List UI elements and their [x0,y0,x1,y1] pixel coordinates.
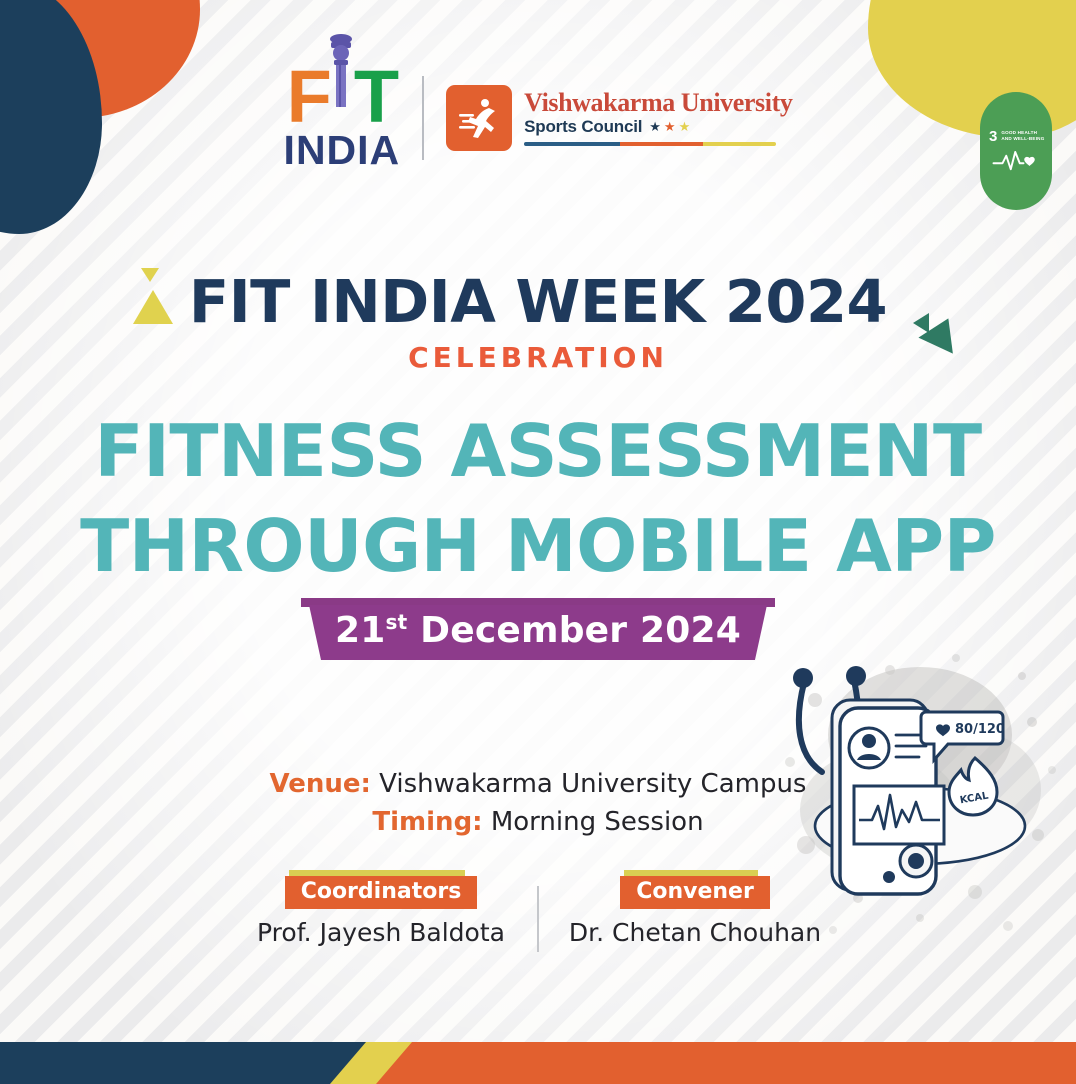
running-athlete-icon [446,85,512,151]
bottom-color-bar [0,1042,1076,1084]
sports-council-label: Sports Council [524,117,642,137]
timing-value: Morning Session [483,807,704,837]
vishwakarma-university-name: Vishwakarma University [524,89,792,116]
star-icon-navy: ★ [649,119,661,135]
credits-divider [537,886,539,952]
fit-letter-t: T [354,68,397,126]
coordinators-column: Coordinators Prof. Jayesh Baldota [243,876,519,947]
svg-text:80/120: 80/120 [955,722,1005,737]
heart-rate-bubble: 80/120 [921,712,1005,760]
coordinators-chip-wrap: Coordinators [285,876,478,909]
ashoka-pillar-icon [326,32,356,110]
flame-icon: KCAL [949,758,997,815]
header-logo-row: F T INDIA [0,64,1076,171]
fit-letter-f: F [287,68,330,126]
yellow-triangle-small-icon [141,268,159,282]
tricolor-underline [524,142,776,146]
star-icon-orange: ★ [664,119,676,135]
fit-india-logo: F T INDIA [284,64,401,171]
bottom-bar-orange [376,1042,1076,1084]
fit-india-wordmark: F T [287,64,397,126]
bottom-bar-navy [0,1042,380,1084]
timing-label: Timing: [372,807,482,837]
celebration-subtitle: CELEBRATION [0,341,1076,374]
star-icon-yellow: ★ [679,119,691,135]
health-app-line-art: 80/120 KCAL [770,630,1070,950]
date-ribbon: 21st December 2024 [309,598,767,660]
convener-role: Convener [620,876,770,909]
week-title-line: FIT INDIA WEEK 2024 [189,272,887,331]
coordinators-name: Prof. Jayesh Baldota [257,918,505,947]
logo-divider [422,76,424,160]
mobile-health-app-illustration: 80/120 KCAL [770,630,1070,950]
headline-line-1: FITNESS ASSESSMENT [0,404,1076,499]
week-title: FIT INDIA WEEK 2024 [189,267,887,336]
date-day: 21 [335,610,386,651]
coordinators-role: Coordinators [285,876,478,909]
vishwakarma-logo: Vishwakarma University Sports Council ★ … [446,85,792,151]
rating-stars: ★ ★ ★ [649,119,690,135]
venue-label: Venue: [270,769,371,799]
venue-value: Vishwakarma University Campus [371,769,807,799]
sports-council-row: Sports Council ★ ★ ★ [524,117,792,137]
convener-chip-wrap: Convener [620,876,770,909]
fit-india-subword: INDIA [284,130,401,171]
vishwakarma-text-block: Vishwakarma University Sports Council ★ … [524,89,792,146]
event-date: 21st December 2024 [309,605,767,660]
date-rest: December 2024 [407,610,741,651]
poster-canvas: 3 GOOD HEALTH AND WELL-BEING F [0,0,1076,1084]
headline-line-2: THROUGH MOBILE APP [0,499,1076,594]
yellow-triangle-large-icon [133,290,173,324]
date-ordinal: st [386,610,408,634]
event-headline: FITNESS ASSESSMENT THROUGH MOBILE APP [0,404,1076,594]
title-block: FIT INDIA WEEK 2024 CELEBRATION [0,272,1076,374]
